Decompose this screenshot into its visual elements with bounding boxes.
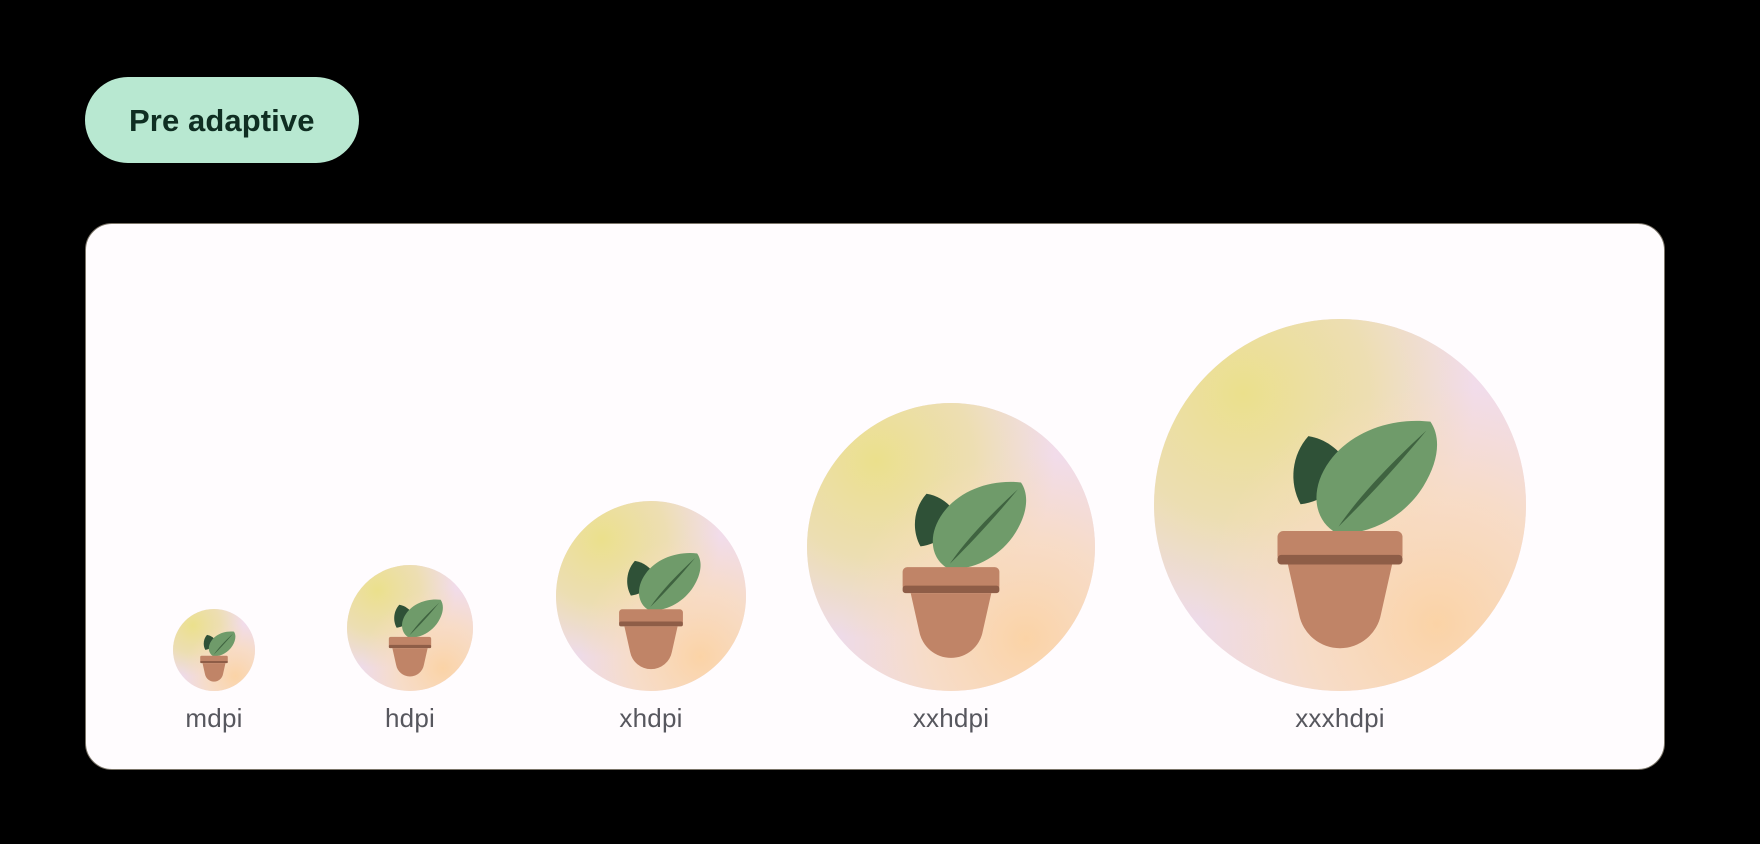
density-label-hdpi: hdpi (385, 705, 435, 731)
label-slot-hdpi: hdpi (385, 691, 435, 725)
density-label-xxxhdpi: xxxhdpi (1295, 705, 1385, 731)
label-slot-mdpi: mdpi (185, 691, 242, 725)
density-comparison-card: mdpi hdpi (85, 223, 1665, 770)
icon-wrap-hdpi (347, 565, 473, 691)
potted-plant-icon (556, 501, 746, 691)
icon-wrap-xxxhdpi (1154, 319, 1526, 691)
density-item-xxxhdpi: xxxhdpi (1120, 319, 1560, 725)
pre-adaptive-badge-label: Pre adaptive (129, 105, 315, 136)
screenshot-root: Pre adaptive mdpi (0, 0, 1760, 844)
icon-wrap-xxhdpi (807, 403, 1095, 691)
potted-plant-icon (173, 609, 255, 691)
density-list: mdpi hdpi (86, 224, 1664, 769)
label-slot-xhdpi: xhdpi (619, 691, 682, 725)
label-slot-xxhdpi: xxhdpi (913, 691, 989, 725)
potted-plant-icon (1154, 319, 1526, 691)
pre-adaptive-badge: Pre adaptive (85, 77, 359, 163)
label-slot-xxxhdpi: xxxhdpi (1295, 691, 1385, 725)
icon-wrap-xhdpi (556, 501, 746, 691)
icon-wrap-mdpi (173, 609, 255, 691)
density-item-mdpi: mdpi (128, 609, 300, 725)
density-item-xhdpi: xhdpi (520, 501, 782, 725)
density-label-xxhdpi: xxhdpi (913, 705, 989, 731)
potted-plant-icon (807, 403, 1095, 691)
density-label-mdpi: mdpi (185, 705, 242, 731)
potted-plant-icon (347, 565, 473, 691)
density-item-xxhdpi: xxhdpi (782, 403, 1120, 725)
density-item-hdpi: hdpi (300, 565, 520, 725)
density-label-xhdpi: xhdpi (619, 705, 682, 731)
